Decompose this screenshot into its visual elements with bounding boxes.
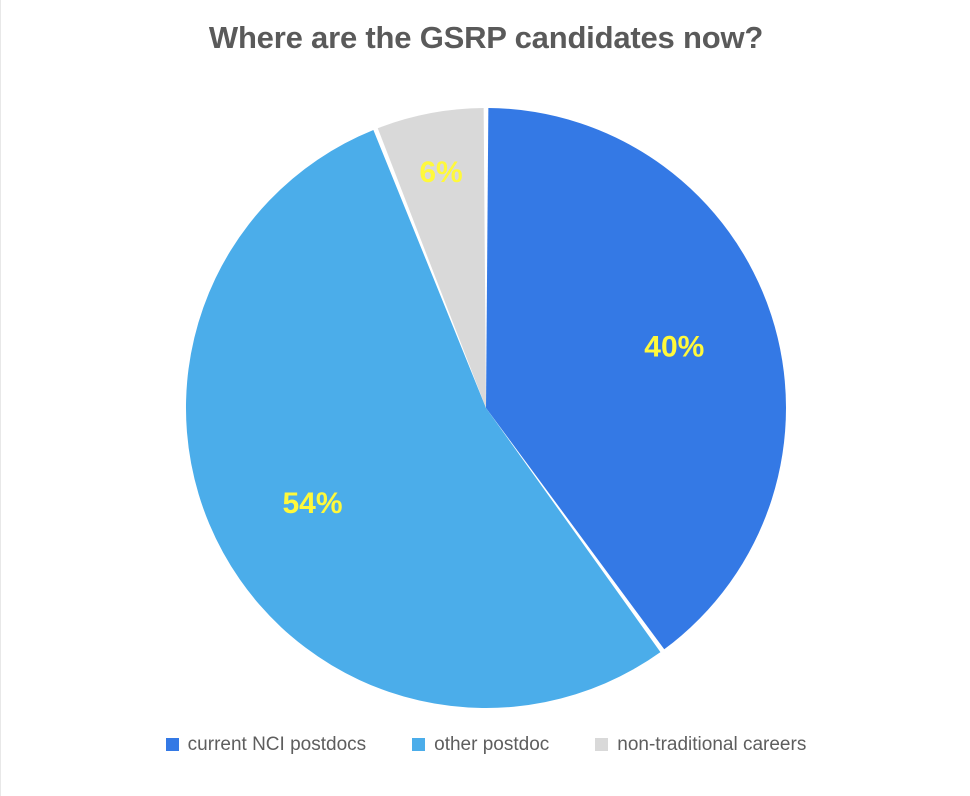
legend-item-label: other postdoc (434, 735, 549, 754)
legend-item[interactable]: non-traditional careers (595, 735, 806, 754)
pie-chart-svg: 40%54%6% (184, 106, 788, 710)
page-title: Where are the GSRP candidates now? (1, 20, 970, 56)
legend-swatch-icon (595, 738, 608, 751)
pie-chart-card: Where are the GSRP candidates now? 40%54… (0, 0, 970, 796)
pie-data-label: 40% (644, 330, 704, 363)
legend-swatch-icon (412, 738, 425, 751)
legend-item-label: current NCI postdocs (188, 735, 366, 754)
legend-item[interactable]: other postdoc (412, 735, 549, 754)
pie-data-label: 54% (282, 487, 342, 520)
pie-data-label: 6% (419, 156, 462, 189)
legend-item[interactable]: current NCI postdocs (166, 735, 366, 754)
pie-chart-plot-area: 40%54%6% (184, 106, 788, 710)
legend-item-label: non-traditional careers (617, 735, 806, 754)
legend-swatch-icon (166, 738, 179, 751)
chart-legend: current NCI postdocsother postdocnon-tra… (1, 735, 970, 754)
pie-slice-group (186, 108, 786, 708)
